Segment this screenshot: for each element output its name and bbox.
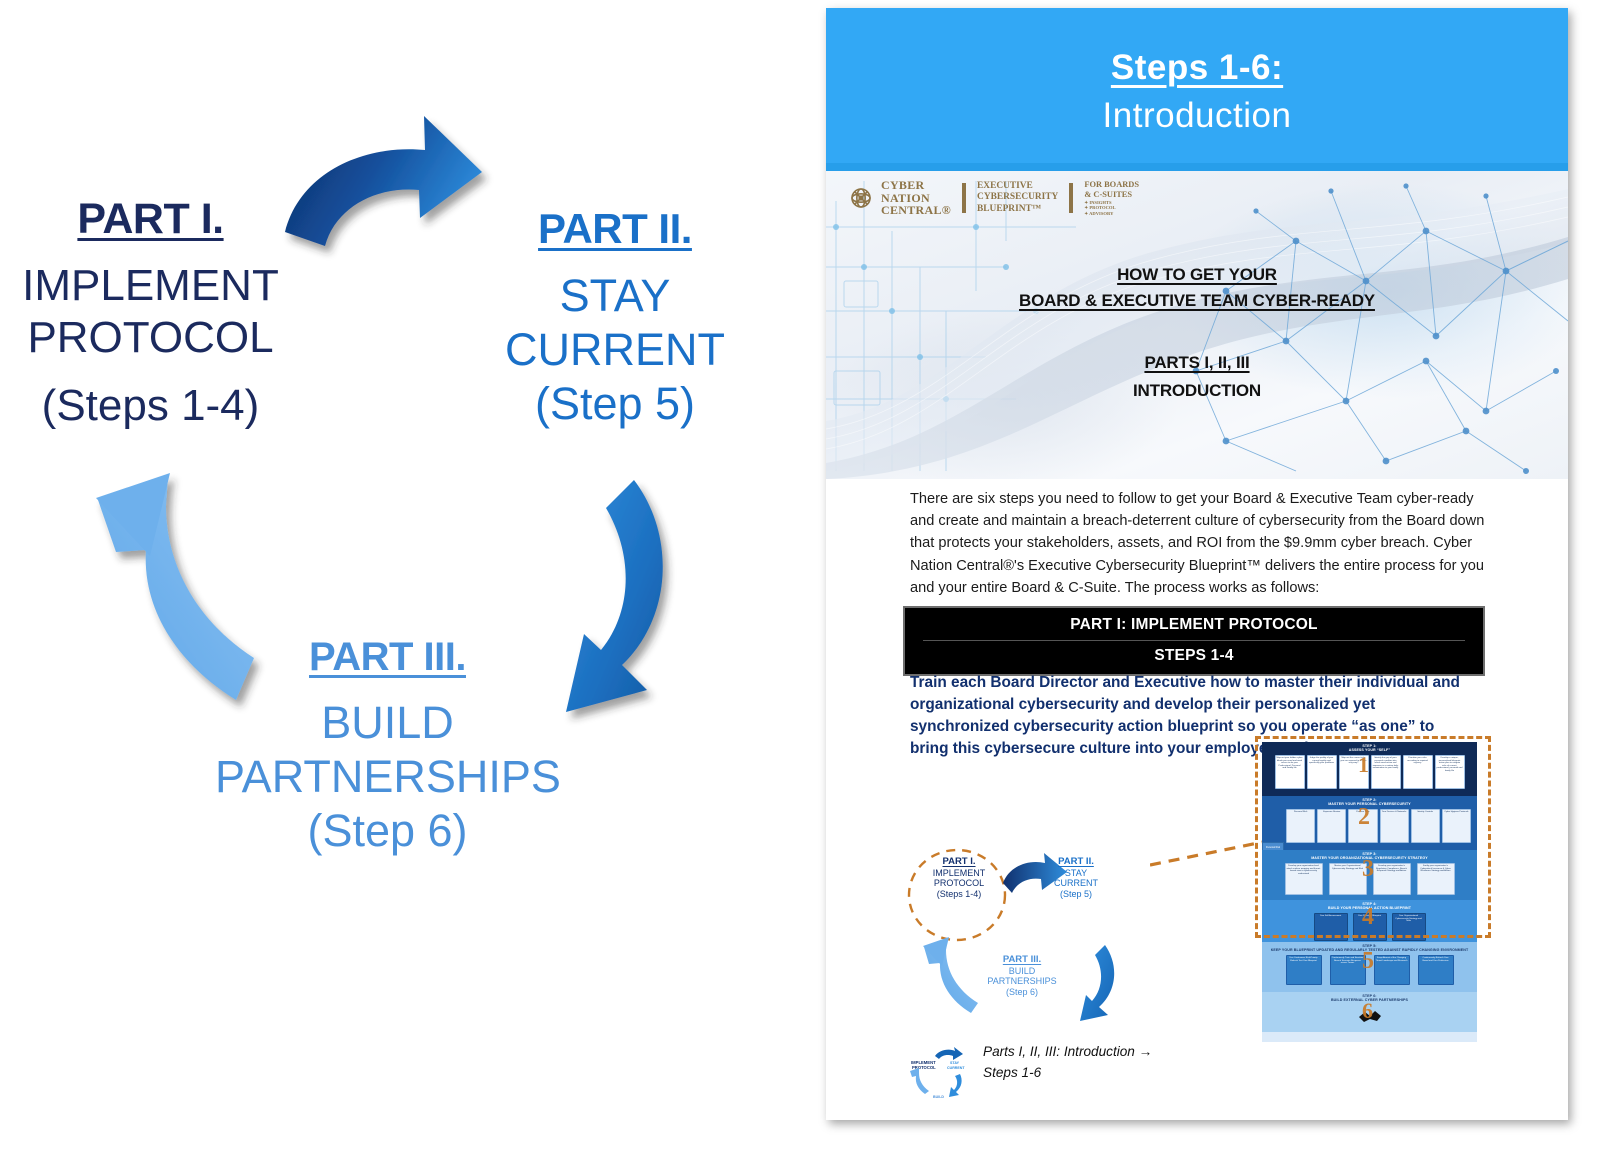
cycle-arrows <box>0 0 800 1160</box>
mini-part-3-line1: BUILD <box>967 966 1077 976</box>
part-1-line2: PROTOCOL <box>8 312 293 364</box>
mini-part-3-line3: (Step 6) <box>967 987 1077 997</box>
blueprint-step-number-5: 5 <box>1362 948 1374 975</box>
svg-text:STAY: STAY <box>950 1061 960 1065</box>
mini-part-1-line2: PROTOCOL <box>913 878 1005 888</box>
mini-part-1-line3: (Steps 1-4) <box>913 889 1005 899</box>
part-3-line2: PARTNERSHIPS <box>215 750 560 804</box>
arrow-right-down-icon <box>566 480 663 712</box>
part-3-line3: (Step 6) <box>215 804 560 858</box>
hero-heading-2: BOARD & EXECUTIVE TEAM CYBER-READY <box>826 291 1568 311</box>
hero-heading-1: HOW TO GET YOUR <box>826 265 1568 285</box>
intro-paragraph: There are six steps you need to follow t… <box>910 488 1488 599</box>
svg-text:BUILD: BUILD <box>933 1095 944 1099</box>
blueprint-card: Continuously Refresh Your Board and Your… <box>1418 955 1454 985</box>
blueprint-step-6: STEP 6: BUILD EXTERNAL CYBER PARTNERSHIP… <box>1262 992 1477 1032</box>
logo-lockup: CYBER NATION CENTRAL® EXECUTIVE CYBERSEC… <box>848 179 1139 217</box>
cycle-part-2: PART II. STAY CURRENT (Step 5) <box>470 205 760 431</box>
blueprint-step-5: STEP 5: KEEP YOUR BLUEPRINT UPDATED AND … <box>1262 942 1477 992</box>
banner-edge <box>826 163 1568 171</box>
footnote-cycle-icon: IMPLEMENT PROTOCOL STAY CURRENT BUILD <box>905 1042 977 1102</box>
blueprint-step-number-6: 6 <box>1362 998 1373 1024</box>
part-3-heading: PART III. <box>215 635 560 680</box>
logo-product-line1: EXECUTIVE <box>977 181 1058 192</box>
part-1-line1: IMPLEMENT <box>8 260 293 312</box>
part-2-line3: (Step 5) <box>470 377 760 431</box>
blueprint-card: Continuously Train and Simulate Breach S… <box>1330 955 1366 985</box>
part-2-line1: STAY <box>470 269 760 323</box>
footnote-text: Parts I, II, III: Introduction → Steps 1… <box>983 1041 1243 1083</box>
hero-heading-3: PARTS I, II, III <box>826 353 1568 373</box>
banner-subtitle: Introduction <box>826 96 1568 136</box>
cycle-part-1: PART I. IMPLEMENT PROTOCOL (Steps 1-4) <box>8 195 293 432</box>
mini-part-2-line1: STAY <box>1030 868 1122 878</box>
mini-part-1: PART I. IMPLEMENT PROTOCOL (Steps 1-4) <box>913 857 1005 899</box>
network-artwork <box>826 171 1568 479</box>
blueprint-result: RESULT: CEO, BOARD OF DIRECTORS & EXECUT… <box>1262 1032 1477 1042</box>
part-2-line2: CURRENT <box>470 323 760 377</box>
mini-part-2-line3: (Step 5) <box>1030 889 1122 899</box>
blueprint-card: Use Continuous Risk-Priority Refresh Tes… <box>1286 955 1322 985</box>
mini-part-3-heading: PART III. <box>967 955 1077 966</box>
logo-product-line3: BLUEPRINT™ <box>977 204 1058 215</box>
logo-brand-line3: CENTRAL® <box>881 204 951 217</box>
footnote-line1: Parts I, II, III: Introduction → <box>983 1041 1243 1062</box>
part-2-heading: PART II. <box>470 205 760 253</box>
part-1-line3: (Steps 1-4) <box>8 380 293 432</box>
document-banner: Steps 1-6: Introduction <box>826 8 1568 171</box>
mini-part-2-heading: PART II. <box>1030 857 1122 868</box>
part-3-line1: BUILD <box>215 696 560 750</box>
black-band-line2: STEPS 1-4 <box>905 645 1483 669</box>
part-1-heading: PART I. <box>8 195 293 244</box>
document-hero: CYBER NATION CENTRAL® EXECUTIVE CYBERSEC… <box>826 171 1568 479</box>
part-1-black-band: PART I: IMPLEMENT PROTOCOL STEPS 1-4 <box>903 606 1485 676</box>
mini-part-3-line2: PARTNERSHIPS <box>967 976 1077 986</box>
logo-divider-2 <box>1069 183 1073 213</box>
black-band-divider <box>923 640 1465 641</box>
banner-title: Steps 1-6: <box>826 48 1568 88</box>
blueprint-card: Keep Abreast of the Changing Threat Land… <box>1374 955 1410 985</box>
mini-part-1-line1: IMPLEMENT <box>913 868 1005 878</box>
mini-part-2: PART II. STAY CURRENT (Step 5) <box>1030 857 1122 899</box>
logo-bullet-3: ✦ ADVISORY <box>1084 211 1139 216</box>
arrow-top-right-icon <box>285 116 482 246</box>
logo-audience-line2: & C-SUITES <box>1084 190 1139 200</box>
cycle-part-3: PART III. BUILD PARTNERSHIPS (Step 6) <box>215 635 560 858</box>
blueprint-highlight-box <box>1255 736 1491 938</box>
black-band-line1: PART I: IMPLEMENT PROTOCOL <box>905 612 1483 636</box>
logo-audience-line1: FOR BOARDS <box>1084 180 1139 190</box>
cyber-nation-central-logo-icon <box>848 184 874 212</box>
footnote-line2: Steps 1-6 <box>983 1062 1243 1083</box>
hero-heading-4: INTRODUCTION <box>826 381 1568 401</box>
logo-product-line2: CYBERSECURITY <box>977 192 1058 203</box>
mini-part-3: PART III. BUILD PARTNERSHIPS (Step 6) <box>967 955 1077 997</box>
logo-divider-1 <box>962 183 966 213</box>
mini-arrow-right-icon <box>1080 945 1114 1021</box>
mini-part-2-line2: CURRENT <box>1030 878 1122 888</box>
logo-brand-line1: CYBER <box>881 179 951 192</box>
cycle-diagram: PART I. IMPLEMENT PROTOCOL (Steps 1-4) P… <box>0 0 800 1160</box>
mini-part-1-heading: PART I. <box>913 857 1005 868</box>
svg-text:CURRENT: CURRENT <box>947 1066 965 1070</box>
